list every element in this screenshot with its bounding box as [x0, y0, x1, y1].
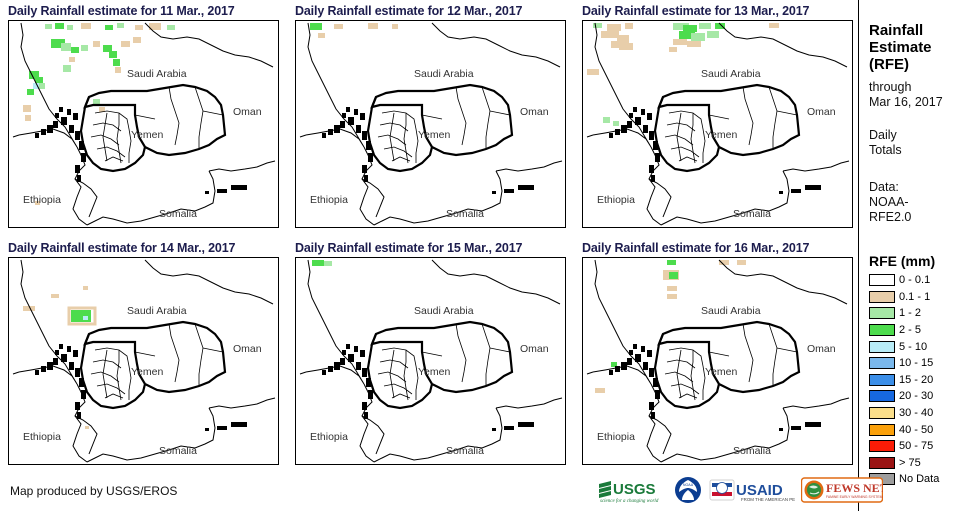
map-panel-4[interactable]: Daily Rainfall estimate for 14 Mar., 201…: [0, 241, 279, 469]
legend-item: 50 - 75: [869, 438, 967, 455]
legend-item: 5 - 10: [869, 338, 967, 355]
legend-label: 0 - 0.1: [899, 274, 930, 286]
label-somalia: Somalia: [733, 208, 771, 220]
legend-item: 0.1 - 1: [869, 289, 967, 306]
legend-item: 40 - 50: [869, 421, 967, 438]
legend-swatch: [869, 374, 895, 386]
legend-label: 2 - 5: [899, 324, 921, 336]
label-yemen: Yemen: [131, 129, 163, 141]
label-oman: Oman: [807, 343, 836, 355]
legend-label: > 75: [899, 457, 921, 469]
legend-item: 15 - 20: [869, 372, 967, 389]
rainfall-cells-1: [23, 23, 175, 205]
panel-title-6: Daily Rainfall estimate for 16 Mar., 201…: [582, 241, 809, 255]
label-ethiopia: Ethiopia: [597, 194, 635, 206]
sidebar-through: through Mar 16, 2017: [869, 80, 967, 110]
map-canvas-4[interactable]: Saudi Arabia Oman Yemen Ethiopia Somalia: [8, 257, 279, 465]
agency-logos: USGS science for a changing world NOAA U…: [597, 472, 855, 508]
label-oman: Oman: [520, 106, 549, 118]
fewsnet-logo: FEWS NET FAMINE EARLY WARNING SYSTEMS NE…: [801, 473, 883, 507]
map-panel-1[interactable]: Daily Rainfall estimate for 11 Mar., 201…: [0, 4, 279, 232]
legend-title: RFE (mm): [869, 253, 935, 269]
legend-sidebar: Rainfall Estimate (RFE) through Mar 16, …: [858, 0, 967, 511]
map-panel-6[interactable]: Daily Rainfall estimate for 16 Mar., 201…: [574, 241, 853, 469]
label-somalia: Somalia: [159, 445, 197, 457]
data-source-line-2: RFE2.0: [869, 210, 967, 225]
panel-title-2: Daily Rainfall estimate for 12 Mar., 201…: [295, 4, 522, 18]
label-ethiopia: Ethiopia: [23, 431, 61, 443]
panel-title-5: Daily Rainfall estimate for 15 Mar., 201…: [295, 241, 522, 255]
label-yemen: Yemen: [418, 366, 450, 378]
legend-swatch: [869, 357, 895, 369]
map-canvas-6[interactable]: Saudi Arabia Oman Yemen Ethiopia Somalia: [582, 257, 853, 465]
legend-item: 10 - 15: [869, 355, 967, 372]
legend-swatch: [869, 274, 895, 286]
sidebar-title: Rainfall Estimate (RFE): [869, 22, 967, 73]
data-source-line-1: NOAA-: [869, 195, 967, 210]
map-canvas-1[interactable]: Saudi Arabia Oman Yemen Ethiopia Somalia: [8, 20, 279, 228]
legend-item: 20 - 30: [869, 388, 967, 405]
svg-text:NOAA: NOAA: [683, 483, 694, 487]
label-saudi-arabia: Saudi Arabia: [701, 68, 761, 80]
map-canvas-2[interactable]: Saudi Arabia Oman Yemen Ethiopia Somalia: [295, 20, 566, 228]
through-label: through: [869, 80, 967, 95]
legend-swatch: [869, 291, 895, 303]
usaid-logo: USAID FROM THE AMERICAN PEOPLE: [709, 473, 795, 507]
legend-item: No Data: [869, 471, 967, 488]
label-ethiopia: Ethiopia: [597, 431, 635, 443]
legend-swatch: [869, 390, 895, 402]
legend-swatch: [869, 324, 895, 336]
legend-list: 0 - 0.10.1 - 11 - 22 - 55 - 1010 - 1515 …: [869, 272, 967, 488]
panel-title-3: Daily Rainfall estimate for 13 Mar., 201…: [582, 4, 809, 18]
label-yemen: Yemen: [418, 129, 450, 141]
legend-item: 30 - 40: [869, 405, 967, 422]
legend-label: 15 - 20: [899, 374, 933, 386]
rainfall-cells-5: [312, 260, 332, 266]
label-ethiopia: Ethiopia: [310, 431, 348, 443]
label-yemen: Yemen: [705, 129, 737, 141]
legend-swatch: [869, 457, 895, 469]
legend-label: 30 - 40: [899, 407, 933, 419]
map-canvas-3[interactable]: Saudi Arabia Oman Yemen Ethiopia Somalia: [582, 20, 853, 228]
legend-item: 0 - 0.1: [869, 272, 967, 289]
svg-text:USGS: USGS: [613, 481, 656, 498]
label-saudi-arabia: Saudi Arabia: [127, 68, 187, 80]
legend-swatch: [869, 341, 895, 353]
label-oman: Oman: [520, 343, 549, 355]
legend-label: 0.1 - 1: [899, 291, 930, 303]
label-somalia: Somalia: [733, 445, 771, 457]
legend-label: 5 - 10: [899, 341, 927, 353]
label-ethiopia: Ethiopia: [23, 194, 61, 206]
totals-line-1: Daily: [869, 128, 967, 143]
label-somalia: Somalia: [159, 208, 197, 220]
label-ethiopia: Ethiopia: [310, 194, 348, 206]
legend-label: 1 - 2: [899, 307, 921, 319]
label-oman: Oman: [233, 343, 262, 355]
svg-text:FAMINE EARLY WARNING SYSTEMS N: FAMINE EARLY WARNING SYSTEMS NETWORK: [826, 495, 883, 499]
data-label: Data:: [869, 180, 967, 195]
legend-item: 2 - 5: [869, 322, 967, 339]
noaa-logo: NOAA: [673, 473, 703, 507]
legend-label: No Data: [899, 473, 939, 485]
label-oman: Oman: [233, 106, 262, 118]
panel-title-4: Daily Rainfall estimate for 14 Mar., 201…: [8, 241, 235, 255]
label-saudi-arabia: Saudi Arabia: [414, 305, 474, 317]
label-yemen: Yemen: [705, 366, 737, 378]
legend-swatch: [869, 440, 895, 452]
legend-label: 20 - 30: [899, 390, 933, 402]
sidebar-data-source: Data: NOAA- RFE2.0: [869, 180, 967, 225]
legend-swatch: [869, 307, 895, 319]
rainfall-cells-2: [310, 23, 398, 38]
totals-line-2: Totals: [869, 143, 967, 158]
map-panel-5[interactable]: Daily Rainfall estimate for 15 Mar., 201…: [287, 241, 566, 469]
svg-text:science for a changing world: science for a changing world: [600, 499, 659, 504]
label-saudi-arabia: Saudi Arabia: [701, 305, 761, 317]
label-saudi-arabia: Saudi Arabia: [414, 68, 474, 80]
legend-swatch: [869, 424, 895, 436]
usgs-logo: USGS science for a changing world: [597, 473, 667, 507]
svg-text:FEWS NET: FEWS NET: [826, 481, 883, 495]
map-grid: Daily Rainfall estimate for 11 Mar., 201…: [0, 0, 858, 475]
label-somalia: Somalia: [446, 208, 484, 220]
label-somalia: Somalia: [446, 445, 484, 457]
legend-swatch: [869, 407, 895, 419]
legend-item: 1 - 2: [869, 305, 967, 322]
map-canvas-5[interactable]: Saudi Arabia Oman Yemen Ethiopia Somalia: [295, 257, 566, 465]
sidebar-totals: Daily Totals: [869, 128, 967, 158]
label-yemen: Yemen: [131, 366, 163, 378]
map-panel-3[interactable]: Daily Rainfall estimate for 13 Mar., 201…: [574, 4, 853, 232]
map-credit: Map produced by USGS/EROS: [10, 484, 177, 498]
legend-label: 40 - 50: [899, 424, 933, 436]
through-date: Mar 16, 2017: [869, 95, 967, 110]
label-oman: Oman: [807, 106, 836, 118]
panel-title-1: Daily Rainfall estimate for 11 Mar., 201…: [8, 4, 235, 18]
legend-item: > 75: [869, 455, 967, 472]
svg-text:FROM THE AMERICAN PEOPLE: FROM THE AMERICAN PEOPLE: [741, 497, 795, 502]
legend-label: 50 - 75: [899, 440, 933, 452]
legend-label: 10 - 15: [899, 357, 933, 369]
label-saudi-arabia: Saudi Arabia: [127, 305, 187, 317]
map-panel-2[interactable]: Daily Rainfall estimate for 12 Mar., 201…: [287, 4, 566, 232]
